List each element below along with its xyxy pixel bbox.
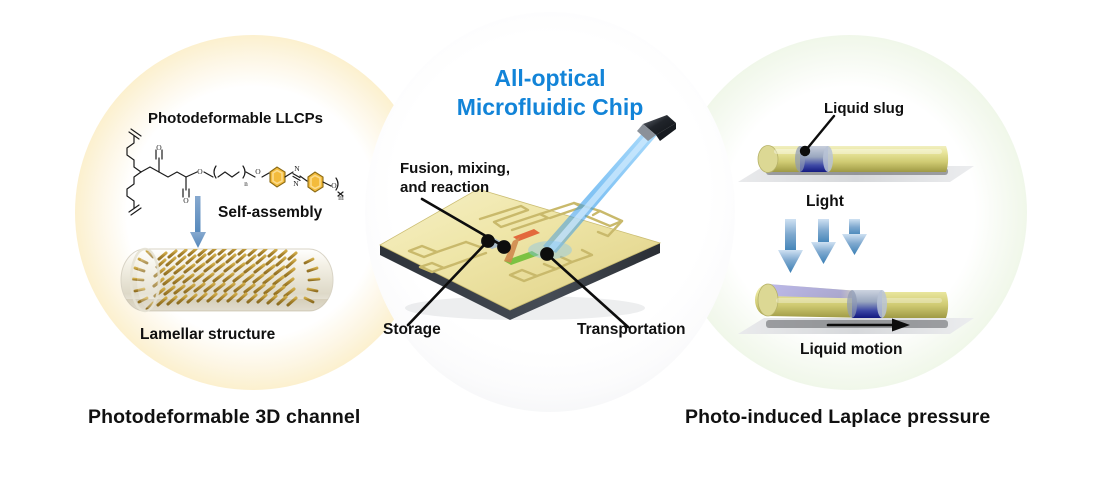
chip-title-line1: All-optical	[365, 64, 735, 93]
lamellar-structure-label: Lamellar structure	[140, 326, 275, 344]
liquid-slug-tube-before	[730, 126, 980, 192]
lamellar-structure-illustration	[115, 243, 339, 321]
right-panel-caption: Photo-induced Laplace pressure	[685, 406, 990, 429]
atom-label-N: N	[293, 179, 299, 188]
light-arrows	[778, 219, 878, 277]
light-arrow-1	[778, 219, 803, 273]
light-arrow-2	[811, 219, 836, 264]
atom-label-O: O	[255, 167, 261, 176]
repeat-index-n: n	[244, 180, 248, 188]
chip-callout-lines	[360, 115, 700, 330]
callout-fusion-label: Fusion, mixing, and reaction	[400, 160, 545, 198]
graphical-abstract-figure: Photodeformable LLCPs	[0, 0, 1095, 477]
chip-title: All-optical Microfluidic Chip	[365, 64, 735, 122]
self-assembly-label: Self-assembly	[218, 204, 322, 222]
atom-label-N: N	[294, 164, 300, 173]
left-panel-heading: Photodeformable LLCPs	[148, 110, 323, 127]
light-arrow-3	[842, 219, 867, 255]
callout-storage-label: Storage	[383, 321, 441, 339]
light-label: Light	[806, 193, 844, 211]
atom-label-O: O	[156, 143, 162, 152]
left-panel-caption: Photodeformable 3D channel	[88, 406, 360, 429]
liquid-motion-arrow	[826, 316, 912, 334]
callout-transportation-label: Transportation	[577, 321, 686, 339]
liquid-slug-label: Liquid slug	[824, 100, 904, 117]
atom-label-O: O	[331, 181, 337, 190]
self-assembly-arrow	[188, 196, 208, 250]
azobenzene-ring-1	[270, 167, 285, 187]
liquid-motion-label: Liquid motion	[800, 341, 902, 359]
liquid-slug-leader-line	[790, 112, 850, 160]
repeat-index-m: m	[338, 194, 344, 202]
atom-label-O: O	[197, 167, 203, 176]
callout-fusion-text: Fusion, mixing, and reaction	[400, 160, 510, 196]
azobenzene-ring-2	[308, 172, 323, 192]
